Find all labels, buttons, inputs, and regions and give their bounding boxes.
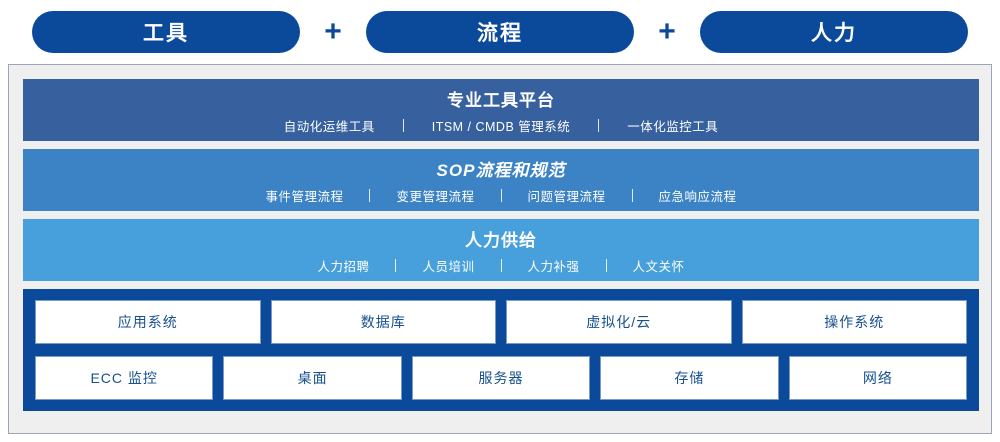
layer-manpower-supply[interactable]: 人力供给 人力招聘 人员培训 人力补强 人文关怀 — [23, 219, 979, 281]
layer-tool-platform-items: 自动化运维工具 ITSM / CMDB 管理系统 一体化监控工具 — [276, 116, 727, 135]
layer-manpower-supply-title: 人力供给 — [465, 226, 537, 251]
infra-box-storage[interactable]: 存储 — [600, 356, 778, 400]
item-separator-icon — [395, 259, 396, 272]
layer-sop-process-title: SOP流程和规范 — [437, 156, 566, 181]
formula-term-manpower[interactable]: 人力 — [700, 11, 968, 53]
item-separator-icon — [632, 189, 633, 202]
layer-item: 问题管理流程 — [528, 186, 606, 205]
infra-box-application-system[interactable]: 应用系统 — [35, 300, 261, 344]
item-separator-icon — [369, 189, 370, 202]
item-separator-icon — [501, 259, 502, 272]
layer-item: 人力补强 — [528, 256, 580, 275]
diagram-root: 工具 + 流程 + 人力 专业工具平台 自动化运维工具 ITSM / CMDB … — [0, 0, 1000, 442]
infra-box-virtualization-cloud[interactable]: 虚拟化/云 — [506, 300, 732, 344]
infra-box-database[interactable]: 数据库 — [271, 300, 497, 344]
formula-term-tools[interactable]: 工具 — [32, 11, 300, 53]
layer-item: 事件管理流程 — [265, 186, 343, 205]
infra-box-ecc-monitoring[interactable]: ECC 监控 — [35, 356, 213, 400]
layer-sop-process-items: 事件管理流程 变更管理流程 问题管理流程 应急响应流程 — [259, 186, 742, 205]
formula-term-tools-label: 工具 — [143, 17, 189, 47]
layer-item: 人员培训 — [422, 256, 474, 275]
layer-item: 人文关怀 — [633, 256, 685, 275]
plus-icon-1: + — [300, 11, 366, 53]
infra-box-desktop[interactable]: 桌面 — [223, 356, 401, 400]
layer-item: 一体化监控工具 — [627, 116, 718, 135]
capability-formula-row: 工具 + 流程 + 人力 — [0, 0, 1000, 63]
layer-item: 自动化运维工具 — [284, 116, 375, 135]
formula-term-process-label: 流程 — [477, 17, 523, 47]
formula-term-manpower-label: 人力 — [811, 17, 857, 47]
layer-item: 人力招聘 — [317, 256, 369, 275]
infra-box-network[interactable]: 网络 — [789, 356, 967, 400]
infrastructure-row-1: 应用系统 数据库 虚拟化/云 操作系统 — [35, 300, 967, 344]
infra-box-operating-system[interactable]: 操作系统 — [742, 300, 968, 344]
layer-item: 应急响应流程 — [659, 186, 737, 205]
layer-manpower-supply-items: 人力招聘 人员培训 人力补强 人文关怀 — [311, 256, 690, 275]
infra-box-server[interactable]: 服务器 — [412, 356, 590, 400]
item-separator-icon — [403, 119, 404, 132]
item-separator-icon — [501, 189, 502, 202]
item-separator-icon — [598, 119, 599, 132]
layer-tool-platform[interactable]: 专业工具平台 自动化运维工具 ITSM / CMDB 管理系统 一体化监控工具 — [23, 79, 979, 141]
layer-tool-platform-title: 专业工具平台 — [447, 86, 555, 111]
plus-icon-2: + — [634, 11, 700, 53]
item-separator-icon — [606, 259, 607, 272]
layer-item: 变更管理流程 — [396, 186, 474, 205]
infrastructure-block: 应用系统 数据库 虚拟化/云 操作系统 ECC 监控 桌面 服务器 存储 网络 — [23, 289, 979, 411]
infrastructure-row-2: ECC 监控 桌面 服务器 存储 网络 — [35, 356, 967, 400]
capability-panel: 专业工具平台 自动化运维工具 ITSM / CMDB 管理系统 一体化监控工具 … — [8, 64, 992, 434]
layer-sop-process[interactable]: SOP流程和规范 事件管理流程 变更管理流程 问题管理流程 应急响应流程 — [23, 149, 979, 211]
formula-term-process[interactable]: 流程 — [366, 11, 634, 53]
layer-item: ITSM / CMDB 管理系统 — [432, 116, 571, 135]
